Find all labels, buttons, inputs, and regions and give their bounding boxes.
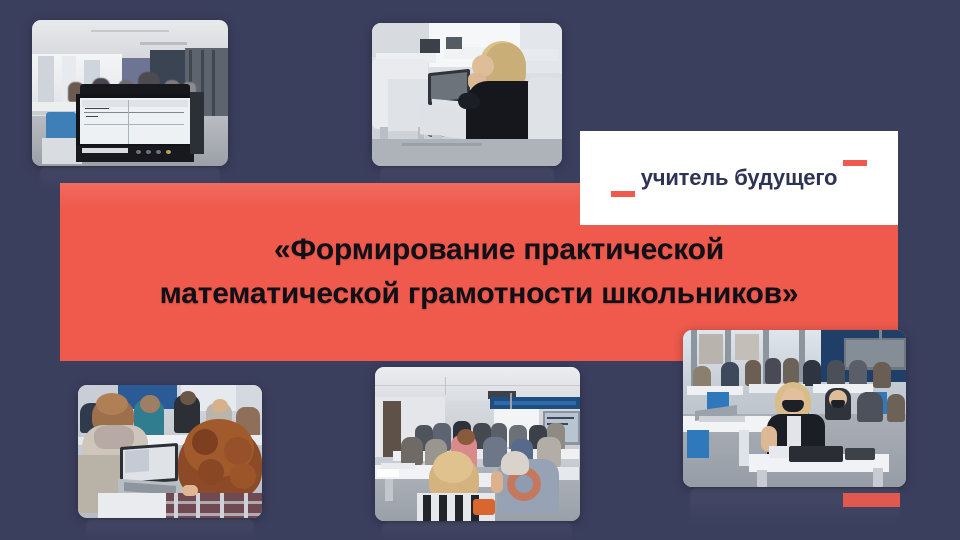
logo-dash-right-icon (843, 160, 867, 166)
photo-bottom-middle (375, 367, 580, 521)
photo-bottom-left-reflection (86, 519, 254, 540)
accent-bar (843, 493, 900, 507)
photo-bottom-middle-reflection (382, 522, 572, 540)
photo-bottom-right (683, 330, 906, 487)
title-line-1: «Формирование практической (274, 232, 724, 268)
photo-bottom-left (78, 385, 262, 518)
photo-top-middle (372, 23, 562, 166)
photo-top-left (32, 20, 228, 166)
slide-canvas: учитель будущего «Формирование практичес… (0, 0, 960, 540)
title-line-2: математической грамотности школьников» (160, 276, 799, 312)
